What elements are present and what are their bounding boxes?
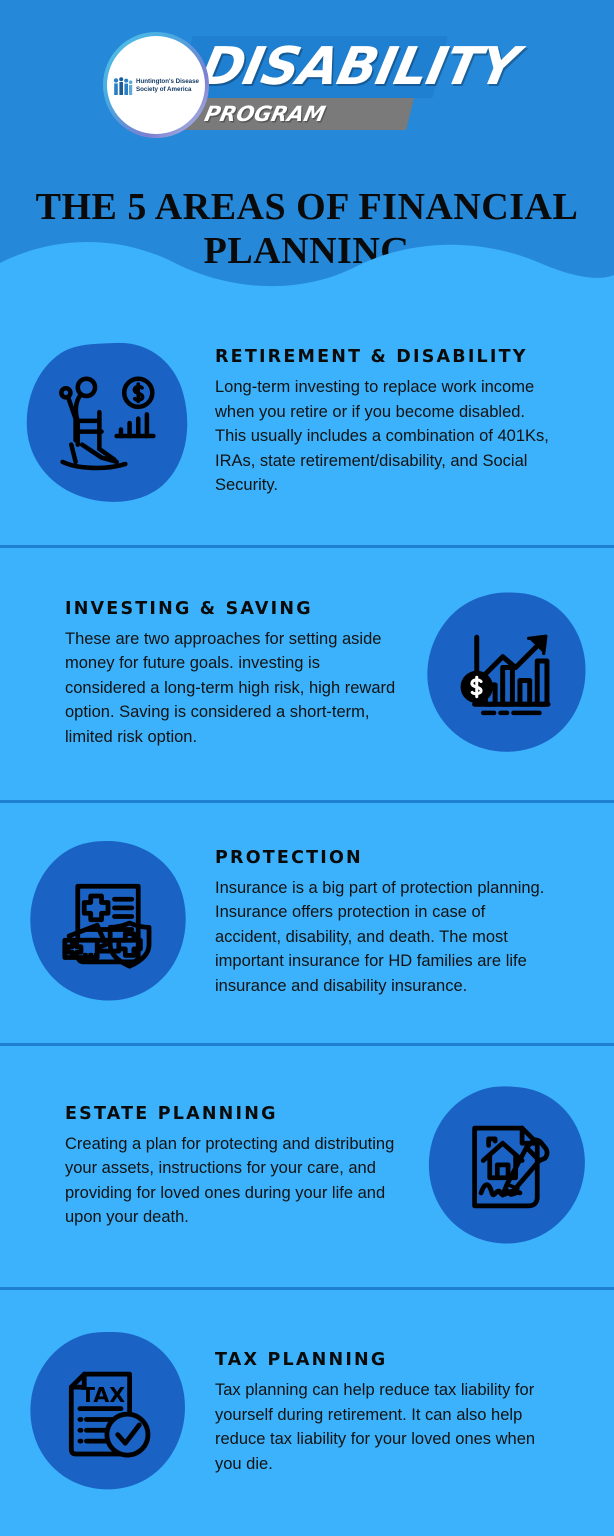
logo-lockup: DISABILITY PROGRAM [0, 14, 614, 139]
hdsa-org-name: Huntington's Disease Society of America [136, 78, 199, 93]
icon-blob: TAX [23, 1329, 193, 1497]
section-body: Tax planning can help reduce tax liabili… [215, 1378, 551, 1476]
tax-document-check-icon: TAX [54, 1359, 162, 1467]
section-tax-planning: TAX TAX PLANNING Tax planning can help r… [0, 1290, 614, 1536]
insurance-document-shield-card-icon [54, 869, 162, 977]
section-body: Insurance is a big part of protection pl… [215, 876, 551, 999]
section-title: TAX PLANNING [215, 1350, 551, 1370]
section-icon-wrap [0, 839, 215, 1007]
growth-chart-dollar-icon [453, 620, 561, 728]
section-text: TAX PLANNING Tax planning can help reduc… [215, 1350, 565, 1476]
section-investing-saving: INVESTING & SAVING These are two approac… [0, 548, 614, 800]
program-title: DISABILITY [195, 36, 478, 98]
wave-divider [0, 241, 614, 300]
section-text: INVESTING & SAVING These are two approac… [49, 599, 399, 750]
section-text: RETIREMENT & DISABILITY Long-term invest… [215, 347, 565, 498]
section-title: PROTECTION [215, 848, 551, 868]
section-protection: PROTECTION Insurance is a big part of pr… [0, 803, 614, 1043]
section-text: PROTECTION Insurance is a big part of pr… [215, 848, 565, 999]
hdsa-org-line1: Huntington's Disease [136, 78, 199, 86]
section-title: ESTATE PLANNING [65, 1104, 399, 1124]
hdsa-mark: Huntington's Disease Society of America [113, 77, 199, 96]
header-banner: DISABILITY PROGRAM [0, 0, 614, 300]
infographic-page: DISABILITY PROGRAM [0, 0, 614, 1536]
section-body: These are two approaches for setting asi… [65, 627, 399, 750]
section-estate-planning: ESTATE PLANNING Creating a plan for prot… [0, 1046, 614, 1287]
section-icon-wrap [0, 339, 215, 507]
section-icon-wrap [399, 1083, 614, 1251]
section-title: INVESTING & SAVING [65, 599, 399, 619]
hdsa-people-bars-icon [113, 77, 133, 96]
icon-blob [23, 339, 193, 507]
section-icon-wrap [399, 590, 614, 758]
section-retirement-disability: RETIREMENT & DISABILITY Long-term invest… [0, 300, 614, 545]
hdsa-org-line2: Society of America [136, 86, 199, 94]
icon-blob [23, 839, 193, 1007]
house-deed-signature-pen-icon [453, 1113, 561, 1221]
hdsa-logo-badge: Huntington's Disease Society of America [103, 32, 209, 138]
section-title: RETIREMENT & DISABILITY [215, 347, 551, 367]
icon-blob [422, 590, 592, 758]
svg-text:TAX: TAX [81, 1383, 125, 1407]
section-icon-wrap: TAX [0, 1329, 215, 1497]
icon-blob [422, 1083, 592, 1251]
section-body: Long-term investing to replace work inco… [215, 375, 551, 498]
program-subtitle: PROGRAM [202, 100, 328, 128]
section-text: ESTATE PLANNING Creating a plan for prot… [49, 1104, 399, 1230]
rocking-chair-dollar-chart-icon [54, 369, 162, 477]
section-body: Creating a plan for protecting and distr… [65, 1132, 399, 1230]
hdsa-logo-circle: Huntington's Disease Society of America [107, 36, 205, 134]
